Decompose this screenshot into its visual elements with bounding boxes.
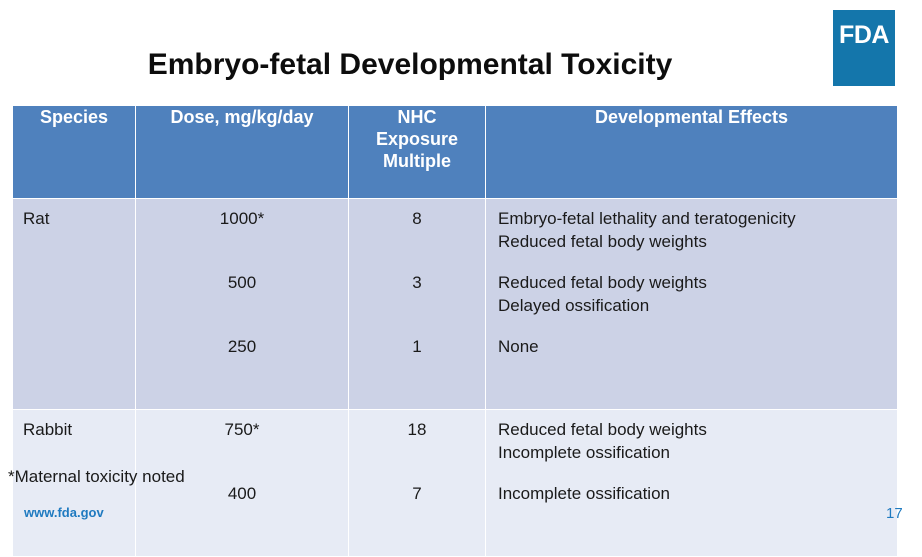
embryo-fetal-toxicity-table: Species Dose, mg/kg/day NHC Exposure Mul…	[12, 105, 898, 557]
dose-subrow: 500	[136, 271, 348, 335]
page-title: Embryo-fetal Developmental Toxicity	[0, 47, 820, 83]
cell-nhc-group-rat: 8 3 1	[349, 199, 485, 409]
column-header-nhc-line3: Multiple	[349, 150, 485, 172]
column-header-dose: Dose, mg/kg/day	[136, 106, 348, 198]
table-row: Rat 1000* 500 250 8 3	[13, 199, 897, 409]
table-header: Species Dose, mg/kg/day NHC Exposure Mul…	[13, 106, 897, 198]
effects-line: Reduced fetal body weights	[498, 230, 897, 253]
effects-subrow: Reduced fetal body weights Delayed ossif…	[498, 271, 897, 335]
fda-logo: FDA	[833, 10, 895, 86]
nhc-subrow: 7	[349, 482, 485, 546]
dose-value: 250	[136, 335, 348, 358]
column-header-nhc-line1: NHC	[349, 106, 485, 128]
effects-subrow: Embryo-fetal lethality and teratogenicit…	[498, 207, 897, 271]
nhc-subrow: 1	[349, 335, 485, 399]
effects-subrow: Incomplete ossification	[498, 482, 897, 546]
cell-nhc-group-rabbit: 18 7	[349, 410, 485, 556]
dose-value: 1000*	[136, 207, 348, 230]
cell-species-rat: Rat	[13, 199, 135, 409]
nhc-value: 7	[349, 482, 485, 505]
nhc-subrow: 3	[349, 271, 485, 335]
column-header-nhc-line2: Exposure	[349, 128, 485, 150]
dose-subrow: 250	[136, 335, 348, 399]
nhc-value: 18	[349, 418, 485, 441]
fda-wordmark: FDA	[839, 23, 889, 48]
effects-line: Embryo-fetal lethality and teratogenicit…	[498, 207, 897, 230]
footer-url-link[interactable]: www.fda.gov	[24, 505, 104, 520]
effects-subrow: Reduced fetal body weights Incomplete os…	[498, 418, 897, 482]
effects-line: Incomplete ossification	[498, 441, 897, 464]
nhc-value: 8	[349, 207, 485, 230]
column-header-developmental-effects: Developmental Effects	[486, 106, 897, 198]
effects-line: Incomplete ossification	[498, 482, 897, 505]
nhc-value: 1	[349, 335, 485, 358]
column-header-species: Species	[13, 106, 135, 198]
effects-subrow: None	[498, 335, 897, 399]
table-footnote: *Maternal toxicity noted	[8, 467, 185, 487]
table-header-row: Species Dose, mg/kg/day NHC Exposure Mul…	[13, 106, 897, 198]
nhc-value: 3	[349, 271, 485, 294]
table-body: Rat 1000* 500 250 8 3	[13, 199, 897, 556]
column-header-nhc-exposure-multiple: NHC Exposure Multiple	[349, 106, 485, 198]
dose-value: 500	[136, 271, 348, 294]
cell-effects-group-rabbit: Reduced fetal body weights Incomplete os…	[486, 410, 897, 556]
dose-subrow: 400	[136, 482, 348, 546]
cell-dose-group-rat: 1000* 500 250	[136, 199, 348, 409]
dose-value: 750*	[136, 418, 348, 441]
effects-line: Delayed ossification	[498, 294, 897, 317]
dose-subrow: 1000*	[136, 207, 348, 271]
slide-page-number: 17	[886, 505, 903, 522]
nhc-subrow: 8	[349, 207, 485, 271]
effects-line: None	[498, 335, 897, 358]
cell-effects-group-rat: Embryo-fetal lethality and teratogenicit…	[486, 199, 897, 409]
effects-line: Reduced fetal body weights	[498, 271, 897, 294]
nhc-subrow: 18	[349, 418, 485, 482]
effects-line: Reduced fetal body weights	[498, 418, 897, 441]
